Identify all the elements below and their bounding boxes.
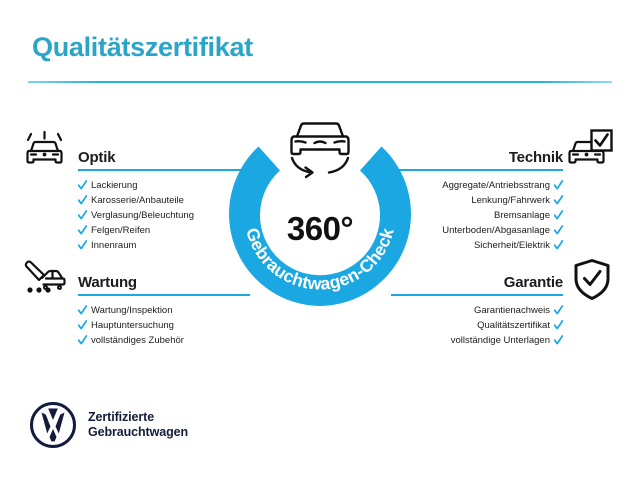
list-item-label: Sicherheit/Elektrik: [474, 238, 550, 253]
check-icon: [78, 210, 87, 221]
check-icon: [554, 305, 563, 316]
check-icon: [554, 225, 563, 236]
list-item-label: Lenkung/Fahrwerk: [471, 193, 550, 208]
section-divider-garantie: [391, 294, 563, 296]
check-icon: [78, 180, 87, 191]
car-checkbox-icon: [566, 128, 614, 172]
check-icon: [554, 320, 563, 331]
list-item: Innenraum: [78, 238, 194, 253]
list-item: Felgen/Reifen: [78, 223, 194, 238]
check-icon: [78, 195, 87, 206]
check-icon: [554, 180, 563, 191]
list-item-label: vollständige Unterlagen: [451, 333, 550, 348]
section-list-optik: Lackierung Karosserie/Anbauteile Verglas…: [78, 178, 194, 253]
section-divider-optik: [78, 169, 250, 171]
car-rotate-icon: [278, 118, 362, 180]
list-item: Verglasung/Beleuchtung: [78, 208, 194, 223]
check-icon: [554, 335, 563, 346]
list-item-label: Verglasung/Beleuchtung: [91, 208, 194, 223]
footer-brand: Zertifizierte Gebrauchtwagen: [30, 402, 188, 448]
brand-text: Zertifizierte Gebrauchtwagen: [88, 410, 188, 440]
title-divider: [28, 81, 612, 83]
list-item-label: Innenraum: [91, 238, 136, 253]
list-item-label: Unterboden/Abgasanlage: [442, 223, 550, 238]
list-item-label: Aggregate/Antriebsstrang: [442, 178, 550, 193]
list-item-label: Wartung/Inspektion: [91, 303, 173, 318]
check-icon: [554, 210, 563, 221]
list-item-label: Hauptuntersuchung: [91, 318, 174, 333]
list-item-label: Felgen/Reifen: [91, 223, 150, 238]
list-item-label: Lackierung: [91, 178, 137, 193]
check-icon: [78, 335, 87, 346]
list-item-label: Bremsanlage: [494, 208, 550, 223]
list-item: Karosserie/Anbauteile: [78, 193, 194, 208]
shield-check-icon: [572, 258, 612, 302]
badge-360-gebrauchtwagen-check: Gebrauchtwagen-Check 360°: [228, 122, 412, 306]
section-divider-technik: [391, 169, 563, 171]
check-icon: [78, 320, 87, 331]
section-list-garantie: Garantienachweis Qualitätszertifikat vol…: [363, 303, 563, 348]
list-item: Wartung/Inspektion: [78, 303, 184, 318]
check-icon: [78, 240, 87, 251]
check-icon: [78, 305, 87, 316]
badge-degrees: 360°: [228, 210, 412, 248]
list-item-label: vollständiges Zubehör: [91, 333, 184, 348]
page-title: Qualitätszertifikat: [32, 32, 253, 63]
certificate-page: Qualitätszertifikat Optik: [0, 0, 640, 480]
brand-line-2: Gebrauchtwagen: [88, 425, 188, 440]
list-item-label: Karosserie/Anbauteile: [91, 193, 184, 208]
list-item: vollständiges Zubehör: [78, 333, 184, 348]
section-list-wartung: Wartung/Inspektion Hauptuntersuchung vol…: [78, 303, 184, 348]
list-item-label: Garantienachweis: [474, 303, 550, 318]
check-icon: [78, 225, 87, 236]
list-item-label: Qualitätszertifikat: [477, 318, 550, 333]
check-icon: [554, 240, 563, 251]
check-icon: [554, 195, 563, 206]
list-item: Lackierung: [78, 178, 194, 193]
list-item: Hauptuntersuchung: [78, 318, 184, 333]
section-divider-wartung: [78, 294, 250, 296]
list-item: Qualitätszertifikat: [363, 318, 563, 333]
list-item: vollständige Unterlagen: [363, 333, 563, 348]
vw-logo: [30, 402, 76, 448]
brand-line-1: Zertifizierte: [88, 410, 188, 425]
